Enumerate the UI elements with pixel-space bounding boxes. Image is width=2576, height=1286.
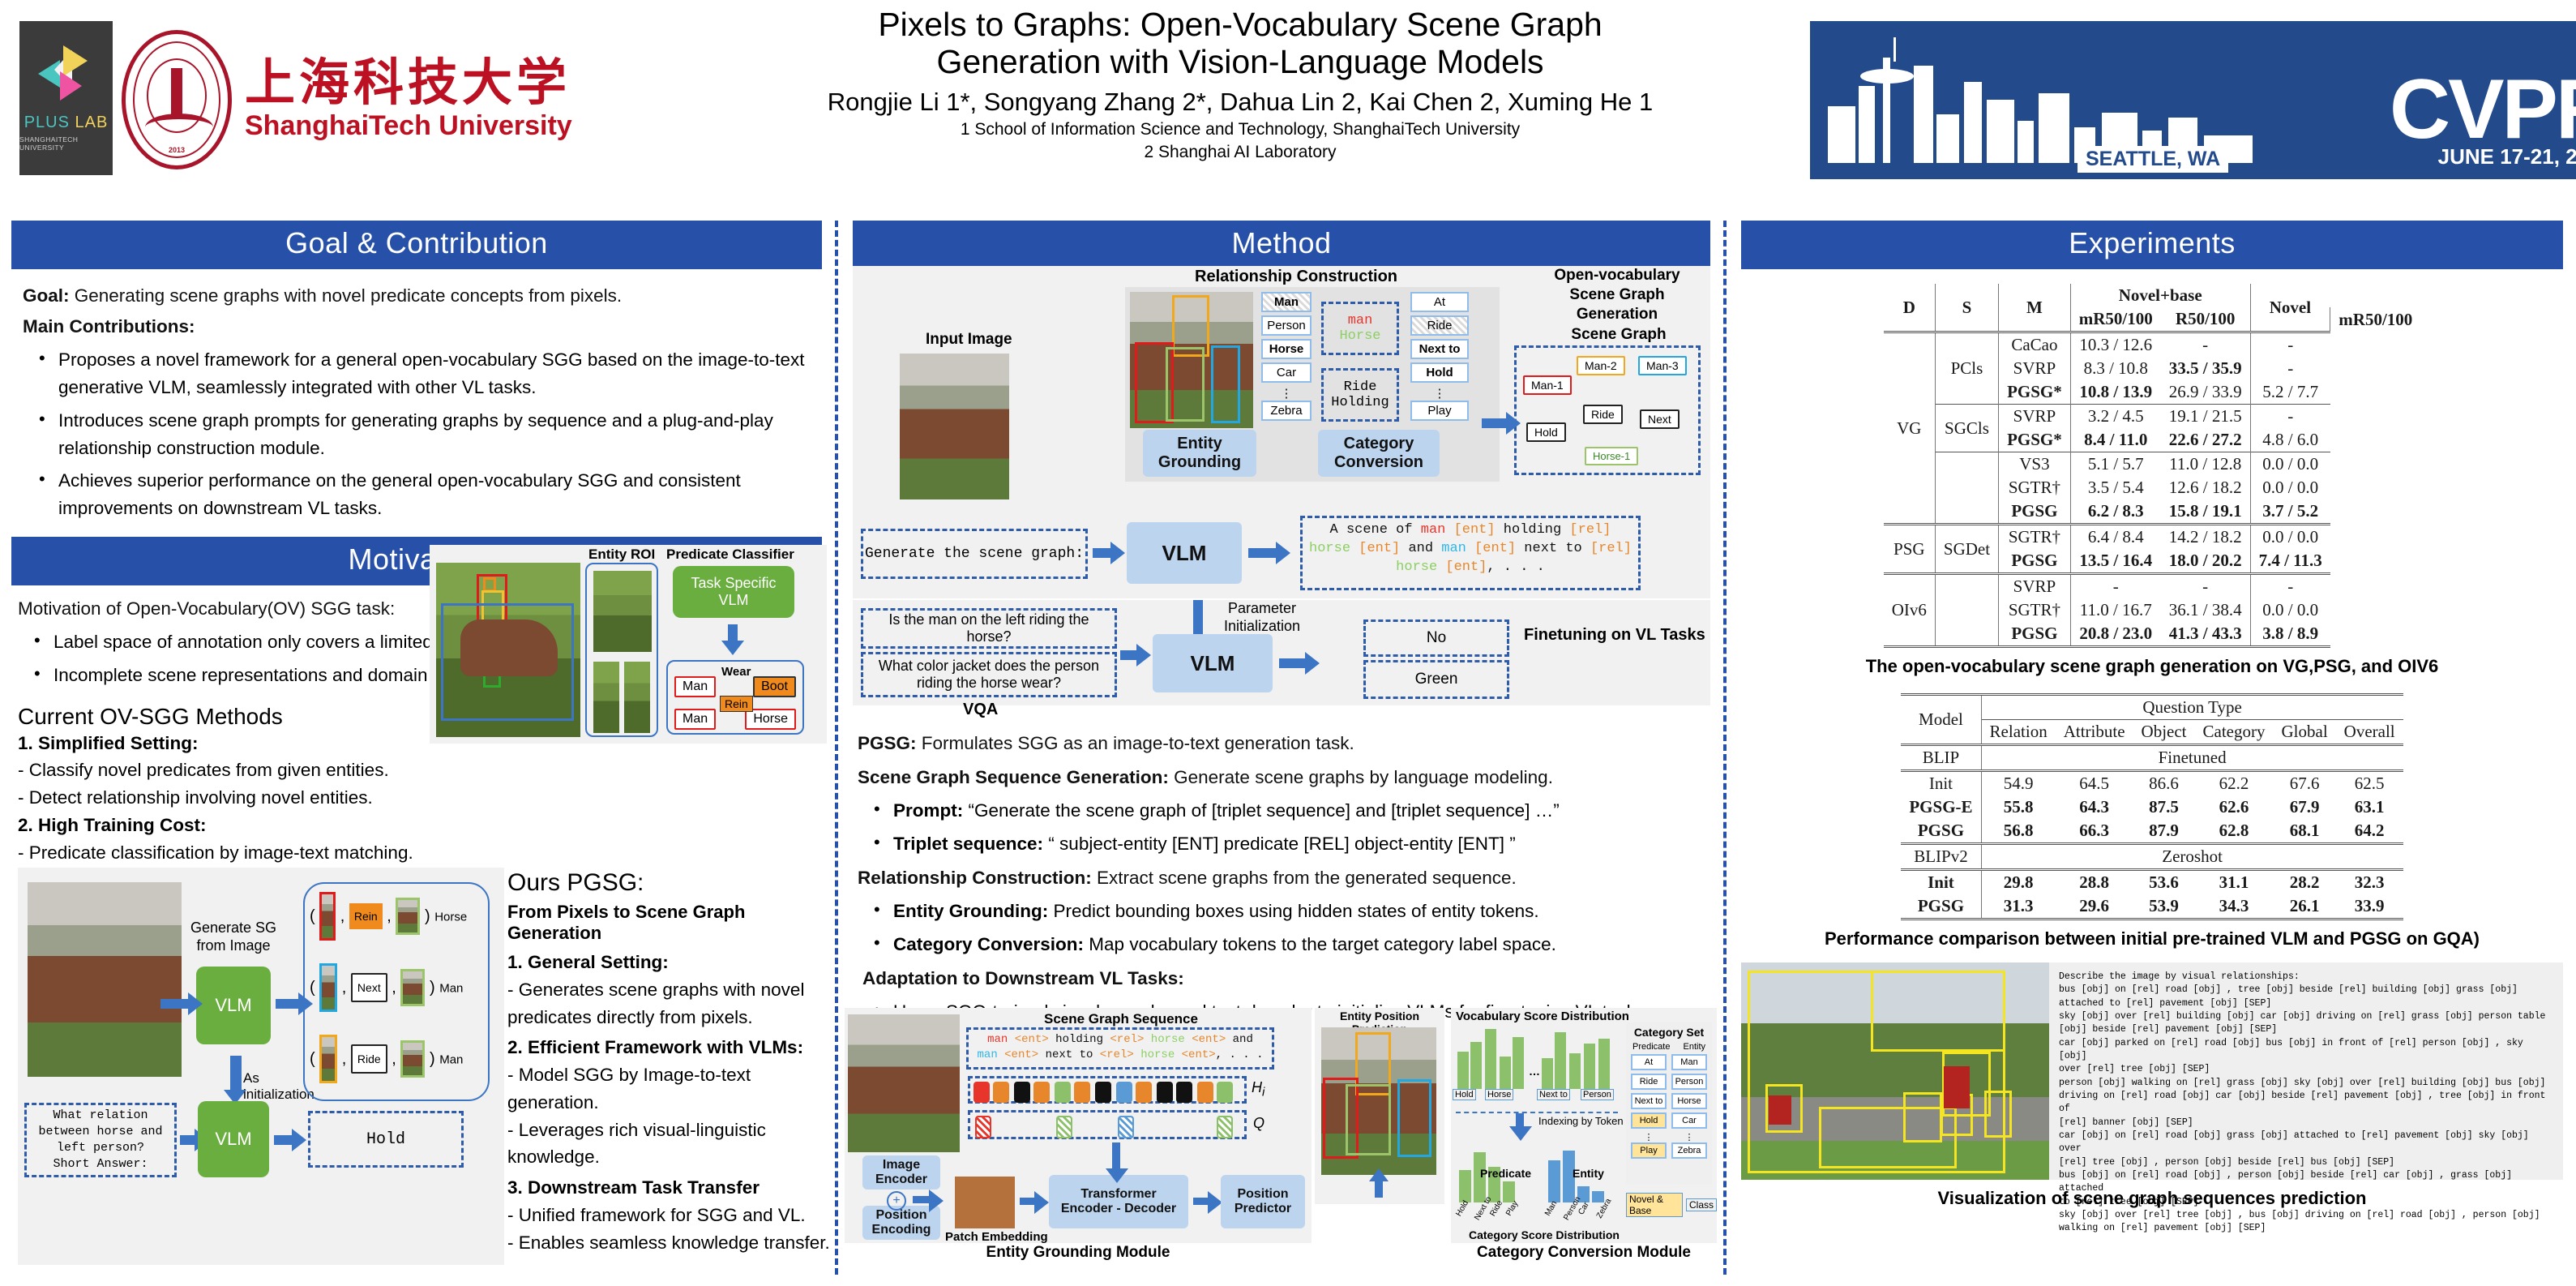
seq-token — [1445, 522, 1453, 538]
plus-lab-affiliation: SHANGHAITECH UNIVERSITY — [19, 135, 113, 152]
cc-text: Map vocabulary tokens to the target cate… — [1084, 934, 1556, 954]
table-cell: 64.2 — [2336, 819, 2403, 844]
seq-token: A scene of — [1330, 522, 1421, 538]
table-row: BLIPv2Zeroshot — [1901, 844, 2403, 870]
table-cell: 19.1 / 21.5 — [2161, 405, 2250, 429]
table-cell: - — [2070, 574, 2161, 599]
query-row — [968, 1110, 1247, 1139]
entity-grounding-line2: Grounding — [1158, 453, 1241, 472]
table-cell: 10.8 / 13.9 — [2070, 380, 2161, 405]
table-cell: PGSG — [1999, 499, 2071, 525]
sg-node-man3: Man-3 — [1638, 356, 1687, 375]
hidden-states-row — [968, 1076, 1247, 1104]
table-bottom-rule — [1884, 647, 2330, 649]
predicate-category-list: At Ride Next to Hold ⋮ Play — [1631, 1054, 1667, 1162]
entity-roi-label: Entity ROI — [588, 547, 655, 563]
plus-lab-logo: PLUS LAB SHANGHAITECH UNIVERSITY — [19, 21, 113, 175]
table-cell: 11.0 / 12.8 — [2161, 452, 2250, 477]
table-cell: 0.0 / 0.0 — [2250, 598, 2330, 622]
horse-field-photo — [436, 563, 580, 737]
cvpr-date: JUNE 17-21, 2024 — [2438, 144, 2576, 169]
arrow-down-icon — [728, 624, 738, 642]
triplet-label: Triplet sequence: — [893, 834, 1043, 854]
table-cell — [1935, 574, 1998, 647]
seq-token: holding — [1496, 522, 1570, 538]
seq-token: <rel> — [1110, 1033, 1144, 1046]
task-specific-vlm-box: Task Specific VLM — [673, 566, 794, 618]
seq-token: <ent> — [1185, 1033, 1226, 1046]
section-header-method: Method — [853, 221, 1710, 269]
table-cell: PGSG — [1901, 894, 1981, 919]
table-cell: Zeroshot — [1981, 844, 2403, 870]
cvpr-logo-text: CVPR — [2390, 74, 2576, 145]
table-row: PGSG56.866.387.962.868.164.2 — [1901, 819, 2403, 844]
input-image-photo — [900, 354, 1009, 499]
arrow-right-icon — [276, 999, 300, 1009]
vqa-answer-2: Green — [1363, 660, 1509, 699]
ov-sgg-line1: Open-vocabulary — [1532, 266, 1702, 285]
vqa-question-1: Is the man on the left riding the horse? — [861, 608, 1117, 649]
arrow-right-icon — [1248, 548, 1277, 558]
table-cell: Overall — [2336, 720, 2403, 745]
paddock-photo — [28, 882, 182, 1077]
entity-grounding-box: Entity Grounding — [1143, 430, 1256, 477]
table-cell: 86.6 — [2133, 771, 2195, 796]
param-init-line2: Initialization — [1209, 618, 1315, 636]
seq-token — [1350, 541, 1359, 556]
predicate-classifier-label: Predicate Classifier — [666, 547, 794, 563]
table-cell: 22.6 / 27.2 — [2161, 428, 2250, 452]
seq-token: [rel] — [1590, 541, 1632, 556]
table-cell: Attribute — [2056, 720, 2133, 745]
table-cell: 67.9 — [2274, 795, 2336, 819]
list-item: Proposes a novel framework for a general… — [23, 346, 811, 401]
ov-sgg-label: Open-vocabulary Scene Graph Generation — [1532, 266, 1702, 324]
table-cell: 29.6 — [2056, 894, 2133, 919]
triplet-group: ( , Rein , ) Horse ( , Next , ) — [303, 882, 490, 1101]
table-cell: Novel — [2250, 284, 2330, 332]
category-conversion-line1: Category — [1344, 435, 1414, 453]
task-specific-vlm-line1: Task Specific — [691, 575, 776, 592]
poster-root: PLUS LAB SHANGHAITECH UNIVERSITY 2013 上海… — [0, 0, 2576, 1286]
page-title-line2: Generation with Vision-Language Models — [713, 44, 1767, 81]
triplet-object: Man — [439, 981, 463, 995]
seq-token: [ent] — [1454, 522, 1496, 538]
position-predictor-line2: Predictor — [1235, 1202, 1291, 1216]
table-cell: 3.8 / 8.9 — [2250, 622, 2330, 647]
seal-year: 2013 — [126, 146, 228, 154]
entity-vocab-list: Man Person Horse Car ⋮ Zebra — [1261, 292, 1312, 424]
rc-text: Extract scene graphs from the generated … — [1092, 868, 1517, 888]
category-legend: Novel & Base Class — [1626, 1193, 1717, 1217]
entity-chart-title: Entity — [1573, 1167, 1604, 1180]
vqa-answer-box: Hold — [308, 1111, 464, 1168]
table-row: Init29.828.853.631.128.232.3 — [1901, 870, 2403, 895]
table-cell: 3.5 / 5.4 — [2070, 476, 2161, 499]
triplet-text: “ subject-entity [ENT] predicate [REL] o… — [1043, 834, 1516, 854]
table-cell: M — [1999, 284, 2071, 332]
cat-item: Ride — [1631, 1074, 1667, 1090]
vlm-box-vqa-method: VLM — [1153, 634, 1273, 692]
graph-node: Man — [674, 709, 716, 730]
table-cell: mR50/100 — [2070, 307, 2161, 332]
arrow-right-icon — [1482, 418, 1508, 428]
generate-sg-label: Generate SG from Image — [188, 919, 279, 954]
cat-item: Person — [1671, 1074, 1707, 1090]
cat-item: At — [1631, 1054, 1667, 1070]
table-cell: S — [1935, 284, 1998, 332]
method-pipeline-figure: Input Image Relationship Construction Ma… — [853, 266, 1710, 509]
sgsg-text: Generate scene graphs by language modeli… — [1169, 767, 1553, 787]
vqa-question-2: What color jacket does the person riding… — [861, 652, 1117, 697]
table-cell: 87.5 — [2133, 795, 2195, 819]
poster-header: PLUS LAB SHANGHAITECH UNIVERSITY 2013 上海… — [0, 0, 2576, 217]
table-cell: 62.8 — [2195, 819, 2274, 844]
graph-edge-label: Rein — [720, 696, 753, 712]
eg-photo — [848, 1014, 960, 1152]
table-cell: 6.4 / 8.4 — [2070, 525, 2161, 550]
pgsg-label: PGSG: — [858, 733, 917, 753]
legend-class: Class — [1686, 1198, 1717, 1211]
results-table-2-wrap: ModelQuestion TypeRelationAttributeObjec… — [1741, 693, 2563, 920]
vocab-score-chart: … — [1456, 1026, 1618, 1089]
section-header-experiments: Experiments — [1741, 221, 2563, 269]
visualization-caption: Visualization of scene graph sequences p… — [1741, 1188, 2563, 1209]
method-item: - Detect relationship involving novel en… — [18, 784, 439, 812]
table-cell: SGTR† — [1999, 525, 2071, 550]
triplet-object: Man — [439, 1052, 463, 1066]
ours-item: - Unified framework for SGG and VL. — [507, 1202, 832, 1229]
seq-token: <ent> — [1008, 1033, 1048, 1046]
cat-item: Man — [1671, 1054, 1707, 1070]
affiliation-2: 2 Shanghai AI Laboratory — [713, 143, 1767, 162]
seq-token: horse — [1144, 1033, 1184, 1046]
vocab-score-title: Vocabulary Score Distribution — [1456, 1010, 1629, 1023]
method-sequence-figure: Generate the scene graph: VLM A scene of… — [853, 509, 1710, 598]
table-cell: PGSG* — [1999, 380, 2071, 405]
cat-item-ellipsis: ⋮ — [1631, 1132, 1667, 1142]
section-header-goal: Goal & Contribution — [11, 221, 822, 269]
cat-item: Horse — [1671, 1093, 1707, 1109]
results-table-1: DSMNovel+baseNovelmR50/100R50/100mR50/10… — [1884, 284, 2421, 648]
patch-embedding-label: Patch Embedding — [945, 1230, 1048, 1244]
university-name-cn: 上海科技大学 — [245, 57, 572, 109]
seq-token: next to — [1038, 1048, 1100, 1061]
predicate-item: Play — [1410, 401, 1469, 421]
predicate-item: Next to — [1410, 339, 1469, 359]
eg-sequence-line2: man <ent> next to <rel> horse <ent>, . .… — [973, 1048, 1267, 1063]
eg-label: Entity Grounding: — [893, 901, 1048, 921]
list-item: Entity Grounding: Predict bounding boxes… — [858, 898, 1705, 925]
eg-sequence-line1: man <ent> holding <rel> horse <ent> and — [973, 1032, 1267, 1048]
token-horse: Horse — [1339, 328, 1380, 344]
ours-pgsg-subtitle: From Pixels to Scene Graph Generation — [507, 902, 832, 944]
table-cell: 31.3 — [1981, 894, 2056, 919]
table-row: Init54.964.586.662.267.662.5 — [1901, 771, 2403, 796]
entity-category-list: Man Person Horse Car ⋮ Zebra — [1671, 1054, 1707, 1162]
left-column: Goal & Contribution Goal: Generating sce… — [11, 221, 822, 921]
column-divider-left — [835, 221, 838, 1275]
arrow-right-icon — [1120, 650, 1138, 660]
results-table-1-caption: The open-vocabulary scene graph generati… — [1741, 656, 2563, 677]
predicate-vocab-list: At Ride Next to Hold ⋮ Play — [1410, 292, 1469, 424]
predicate-item: Ride — [1410, 315, 1469, 336]
token-holding: Holding — [1331, 395, 1389, 410]
table-cell: PCls — [1935, 332, 1998, 405]
university-seal-icon: 2013 — [122, 30, 232, 169]
seq-token: horse — [1134, 1048, 1175, 1061]
table-cell: PGSG — [1999, 549, 2071, 574]
ov-sgg-line2: Scene Graph Generation — [1532, 285, 1702, 324]
token-man: man — [1348, 313, 1373, 328]
table-cell: 0.0 / 0.0 — [2250, 525, 2330, 550]
method-item: 2. High Training Cost: — [18, 812, 439, 839]
triplet-row: ( , Next , ) Man — [310, 963, 463, 1012]
table-cell: 7.4 / 11.3 — [2250, 549, 2330, 574]
triplet-row: ( , Ride , ) Man — [310, 1035, 463, 1083]
category-conversion-box: Category Conversion — [1318, 430, 1440, 477]
scene-graph-box: Man-1 Man-2 Man-3 Hold Ride Next Horse-1 — [1514, 345, 1701, 475]
table-cell: SGDet — [1935, 525, 1998, 574]
param-init-line1: Parameter — [1209, 600, 1315, 618]
image-encoder-box: Image Encoder — [862, 1155, 940, 1190]
table-cell: SGCls — [1935, 405, 1998, 452]
predicate-item: At — [1410, 292, 1469, 312]
table-cell: 3.7 / 5.2 — [2250, 499, 2330, 525]
list-item: Category Conversion: Map vocabulary toke… — [858, 931, 1705, 958]
table-cell: 32.3 — [2336, 870, 2403, 895]
table-cell: - — [2250, 405, 2330, 429]
table-cell: 26.9 / 33.9 — [2161, 380, 2250, 405]
vocab-label: Next to — [1537, 1089, 1570, 1100]
indexing-line — [1456, 1112, 1618, 1113]
table-cell: 5.2 / 7.7 — [2250, 380, 2330, 405]
vocab-label: Person — [1581, 1089, 1614, 1100]
table-cell: 26.1 — [2274, 894, 2336, 919]
table-cell: Global — [2274, 720, 2336, 745]
hidden-state-label: Hi — [1252, 1079, 1264, 1100]
table-cell: 63.1 — [2336, 795, 2403, 819]
table-cell: SGTR† — [1999, 476, 2071, 499]
entity-position-prediction-figure: Entity Position Prediction — [1315, 1008, 1444, 1204]
mid-token-box-top: man Horse — [1321, 302, 1399, 355]
seq-token — [1466, 541, 1474, 556]
table-cell: PGSG — [1999, 622, 2071, 647]
seq-token: , . . . — [1216, 1048, 1264, 1061]
epp-photo — [1321, 1027, 1436, 1175]
seq-token: man — [1421, 522, 1446, 538]
author-list: Rongjie Li 1*, Songyang Zhang 2*, Dahua … — [713, 88, 1767, 117]
shanghaitech-logo: 2013 上海科技大学 ShanghaiTech University — [122, 24, 689, 174]
sg-node-horse1: Horse-1 — [1585, 447, 1638, 465]
table-cell: - — [2161, 574, 2250, 599]
cat-item: Next to — [1631, 1093, 1667, 1109]
cat-item-ellipsis: ⋮ — [1671, 1132, 1707, 1142]
table-cell: - — [2250, 574, 2330, 599]
sg-node-hold: Hold — [1526, 422, 1566, 442]
results-table-2: ModelQuestion TypeRelationAttributeObjec… — [1901, 693, 2403, 920]
arrow-right-icon — [180, 1135, 196, 1145]
vocab-label: Hold — [1453, 1089, 1476, 1100]
pgsg-text: Formulates SGG as an image-to-text gener… — [917, 733, 1354, 753]
table-cell: PGSG-E — [1901, 795, 1981, 819]
seq-token: man — [987, 1033, 1008, 1046]
table-cell: VG — [1884, 332, 1936, 525]
token-ride: Ride — [1344, 379, 1377, 395]
arrow-right-icon — [274, 1135, 293, 1145]
table-header-row: ModelQuestion Type — [1901, 695, 2403, 720]
ours-item: - Model SGG by Image-to-text generation. — [507, 1061, 832, 1117]
indexing-label: Indexing by Token — [1538, 1115, 1624, 1127]
table-cell: 0.0 / 0.0 — [2250, 476, 2330, 499]
table-cell: Question Type — [1981, 695, 2403, 720]
vlm-box-method: VLM — [1127, 522, 1242, 584]
predicate-graph-group: Man Boot Wear Man Horse Rein — [666, 660, 804, 735]
entity-item-ellipsis: ⋮ — [1261, 386, 1312, 401]
triplet-predicate: Next — [351, 973, 387, 1002]
table-cell: Category — [2195, 720, 2274, 745]
position-predictor-box: Position Predictor — [1221, 1175, 1305, 1228]
image-encoder-line2: Encoder — [875, 1172, 927, 1187]
table-cell: 0.0 / 0.0 — [2250, 452, 2330, 477]
col-predicate-header: Predicate — [1632, 1042, 1670, 1052]
vlm-box-sg: VLM — [196, 967, 271, 1044]
parameter-init-label: Parameter Initialization — [1209, 600, 1315, 635]
seq-token: man — [978, 1048, 998, 1061]
legend-novel-base: Novel & Base — [1626, 1193, 1683, 1217]
arrow-right-icon — [160, 999, 190, 1009]
table-cell: 15.8 / 19.1 — [2161, 499, 2250, 525]
arrow-down-icon — [1193, 600, 1203, 636]
seq-token — [1437, 559, 1445, 575]
generate-sg-line2: from Image — [188, 937, 279, 955]
table-cell: 28.2 — [2274, 870, 2336, 895]
seq-token: [ent] — [1359, 541, 1400, 556]
table-cell: 62.2 — [2195, 771, 2274, 796]
table-cell: 64.3 — [2056, 795, 2133, 819]
table-cell: Relation — [1981, 720, 2056, 745]
table-cell: 62.5 — [2336, 771, 2403, 796]
results-table-2-caption: Performance comparison between initial p… — [1741, 928, 2563, 949]
category-conversion-line2: Conversion — [1334, 453, 1423, 472]
category-conversion-module-caption: Category Conversion Module — [1451, 1244, 1717, 1262]
rc-bullets: Entity Grounding: Predict bounding boxes… — [858, 898, 1705, 958]
seq-token: <ent> — [998, 1048, 1038, 1061]
table-cell: 10.3 / 12.6 — [2070, 332, 2161, 358]
right-column: Experiments DSMNovel+baseNovelmR50/100R5… — [1741, 221, 2563, 1209]
transformer-line1: Transformer — [1080, 1187, 1156, 1202]
table-cell: - — [2250, 332, 2330, 358]
category-set-title: Category Set — [1626, 1022, 1712, 1039]
prompt-label: Prompt: — [893, 800, 963, 821]
table-cell: 20.8 / 23.0 — [2070, 622, 2161, 647]
cat-item: Car — [1671, 1112, 1707, 1129]
seq-token: [ent] — [1474, 541, 1516, 556]
category-set-panel: Category Set Predicate Entity At Ride Ne… — [1626, 1022, 1712, 1185]
transformer-line2: Encoder - Decoder — [1061, 1202, 1176, 1216]
graph-node: Man — [674, 676, 716, 697]
vlm-box-vqa: VLM — [198, 1101, 269, 1177]
seq-token: <rel> — [1100, 1048, 1134, 1061]
page-title-line1: Pixels to Graphs: Open-Vocabulary Scene … — [713, 6, 1767, 44]
table-cell: R50/100 — [2161, 307, 2250, 332]
entity-item: Horse — [1261, 339, 1312, 359]
adaptation-label: Adaptation to Downstream VL Tasks: — [858, 965, 1705, 992]
table-row: SGClsSVRP3.2 / 4.519.1 / 21.5- — [1884, 405, 2421, 429]
arrow-up-icon — [1375, 1180, 1383, 1198]
contributions-label: Main Contributions: — [23, 313, 811, 341]
entity-roi-group — [585, 563, 658, 737]
goal-label: Goal: — [23, 285, 70, 306]
table-cell: - — [2161, 332, 2250, 358]
cvpr-banner: CVPR JUNE 17-21, 2024 SEATTLE, WA — [1810, 21, 2576, 179]
goal-body: Goal: Generating scene graphs with novel… — [11, 269, 822, 522]
eg-sequence-title: Scene Graph Sequence — [1044, 1011, 1198, 1027]
entity-grounding-line1: Entity — [1177, 435, 1222, 453]
table-row: PGSG-E55.864.387.562.667.963.1 — [1901, 795, 2403, 819]
triplet-predicate: Rein — [349, 903, 383, 929]
table-cell: 6.2 / 8.3 — [2070, 499, 2161, 525]
eg-text: Predict bounding boxes using hidden stat… — [1048, 901, 1538, 921]
table-cell: 8.4 / 11.0 — [2070, 428, 2161, 452]
visualization-figure: Describe the image by visual relationshi… — [1741, 962, 2563, 1180]
method-text-block: PGSG: Formulates SGG as an image-to-text… — [858, 730, 1705, 1026]
table-cell: SVRP — [1999, 574, 2071, 599]
table-cell: 53.9 — [2133, 894, 2195, 919]
ours-pgsg-title: Ours PGSG: — [507, 869, 832, 897]
cvpr-city: SEATTLE, WA — [2077, 146, 2228, 173]
contributions-list: Proposes a novel framework for a general… — [23, 346, 811, 522]
table-cell: 11.0 / 16.7 — [2070, 598, 2161, 622]
table-cell: 14.2 / 18.2 — [2161, 525, 2250, 550]
table-cell: 33.9 — [2336, 894, 2403, 919]
predicate-item-ellipsis: ⋮ — [1410, 386, 1469, 401]
table-cell: 31.1 — [2195, 870, 2274, 895]
scene-graph-sequence-text: Describe the image by visual relationshi… — [2049, 962, 2563, 1180]
predicate-item: Hold — [1410, 362, 1469, 383]
entity-item: Man — [1261, 292, 1312, 312]
finetuning-caption: Finetuning on VL Tasks — [1524, 626, 1705, 645]
method-item: - Predicate classification by image-text… — [18, 839, 439, 867]
table-cell: 5.1 / 5.7 — [2070, 452, 2161, 477]
table-cell: 36.1 / 38.4 — [2161, 598, 2250, 622]
table-row: BLIPFinetuned — [1901, 745, 2403, 771]
table-cell: 3.2 / 4.5 — [2070, 405, 2161, 429]
table-cell: BLIP — [1901, 745, 1981, 771]
table-cell: mR50/100 — [2330, 307, 2421, 332]
table-bottom-rule — [1901, 919, 2403, 921]
table-cell: 41.3 / 43.3 — [2161, 622, 2250, 647]
ours-item: - Leverages rich visual-linguistic knowl… — [507, 1117, 832, 1172]
list-item: Prompt: “Generate the scene graph of [tr… — [858, 797, 1705, 825]
seq-token: <ent> — [1175, 1048, 1215, 1061]
table-cell: BLIPv2 — [1901, 844, 1981, 870]
ours-pgsg-text: Ours PGSG: From Pixels to Scene Graph Ge… — [507, 869, 832, 1256]
query-label: Q — [1253, 1115, 1264, 1132]
table-cell: Init — [1901, 870, 1981, 895]
category-score-title: Category Score Distribution — [1469, 1228, 1620, 1241]
ours-item: - Enables seamless knowledge transfer. — [507, 1229, 832, 1257]
entity-item: Zebra — [1261, 401, 1312, 421]
table-cell: SVRP — [1999, 405, 2071, 429]
ours-item: 3. Downstream Task Transfer — [507, 1174, 832, 1202]
list-item: Achieves superior performance on the gen… — [23, 467, 811, 522]
plus-lab-name: PLUS LAB — [24, 114, 109, 132]
table-cell: 64.5 — [2056, 771, 2133, 796]
results-table-1-wrap: DSMNovel+baseNovelmR50/100R50/100mR50/10… — [1741, 284, 2563, 648]
vqa-caption: VQA — [963, 701, 998, 719]
input-image-label: Input Image — [926, 331, 1012, 349]
